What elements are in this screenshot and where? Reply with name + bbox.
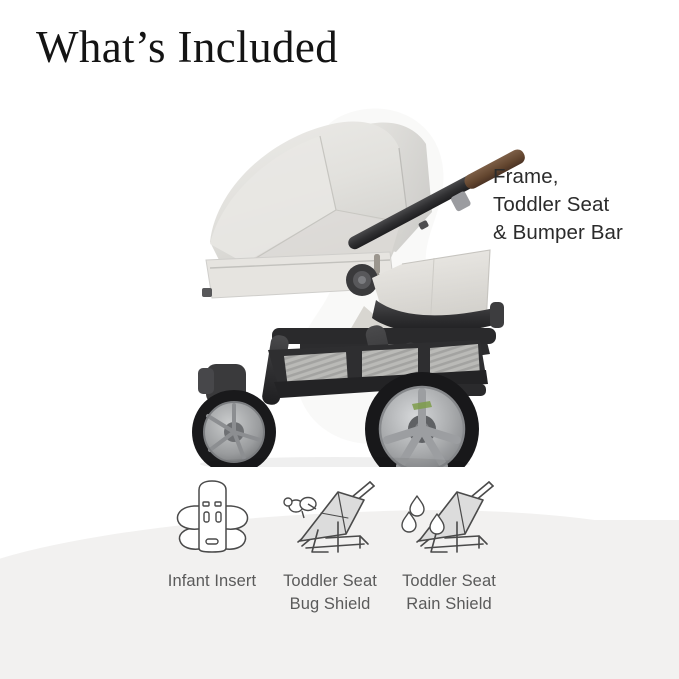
accessory-label-line: Toddler Seat [268, 570, 392, 593]
infographic-page: What’s Included [0, 0, 679, 679]
accessory-item-bug-shield: Toddler Seat Bug Shield [268, 478, 392, 616]
callout-line-1: Frame, [493, 163, 623, 191]
front-wheel [192, 364, 276, 467]
accessory-label-rain-shield: Toddler Seat Rain Shield [387, 570, 511, 616]
stroller-hero-image [150, 92, 550, 467]
callout-line-3: & Bumper Bar [493, 219, 623, 247]
accessory-label-infant-insert: Infant Insert [150, 570, 274, 593]
callout-frame-toddler-seat: Frame, Toddler Seat & Bumper Bar [493, 163, 623, 247]
accessory-label-line: Toddler Seat [387, 570, 511, 593]
accessory-label-line: Infant Insert [150, 570, 274, 593]
accessory-label-line: Rain Shield [387, 593, 511, 616]
callout-line-2: Toddler Seat [493, 191, 623, 219]
accessory-list: Infant Insert [150, 478, 530, 623]
accessory-item-infant-insert: Infant Insert [150, 478, 274, 593]
accessory-item-rain-shield: Toddler Seat Rain Shield [387, 478, 511, 616]
accessory-label-bug-shield: Toddler Seat Bug Shield [268, 570, 392, 616]
infant-insert-icon [150, 478, 274, 556]
toddler-seat-rain-shield-icon [387, 478, 511, 556]
page-title: What’s Included [36, 21, 338, 73]
accessory-label-line: Bug Shield [268, 593, 392, 616]
toddler-seat-bug-shield-icon [268, 478, 392, 556]
